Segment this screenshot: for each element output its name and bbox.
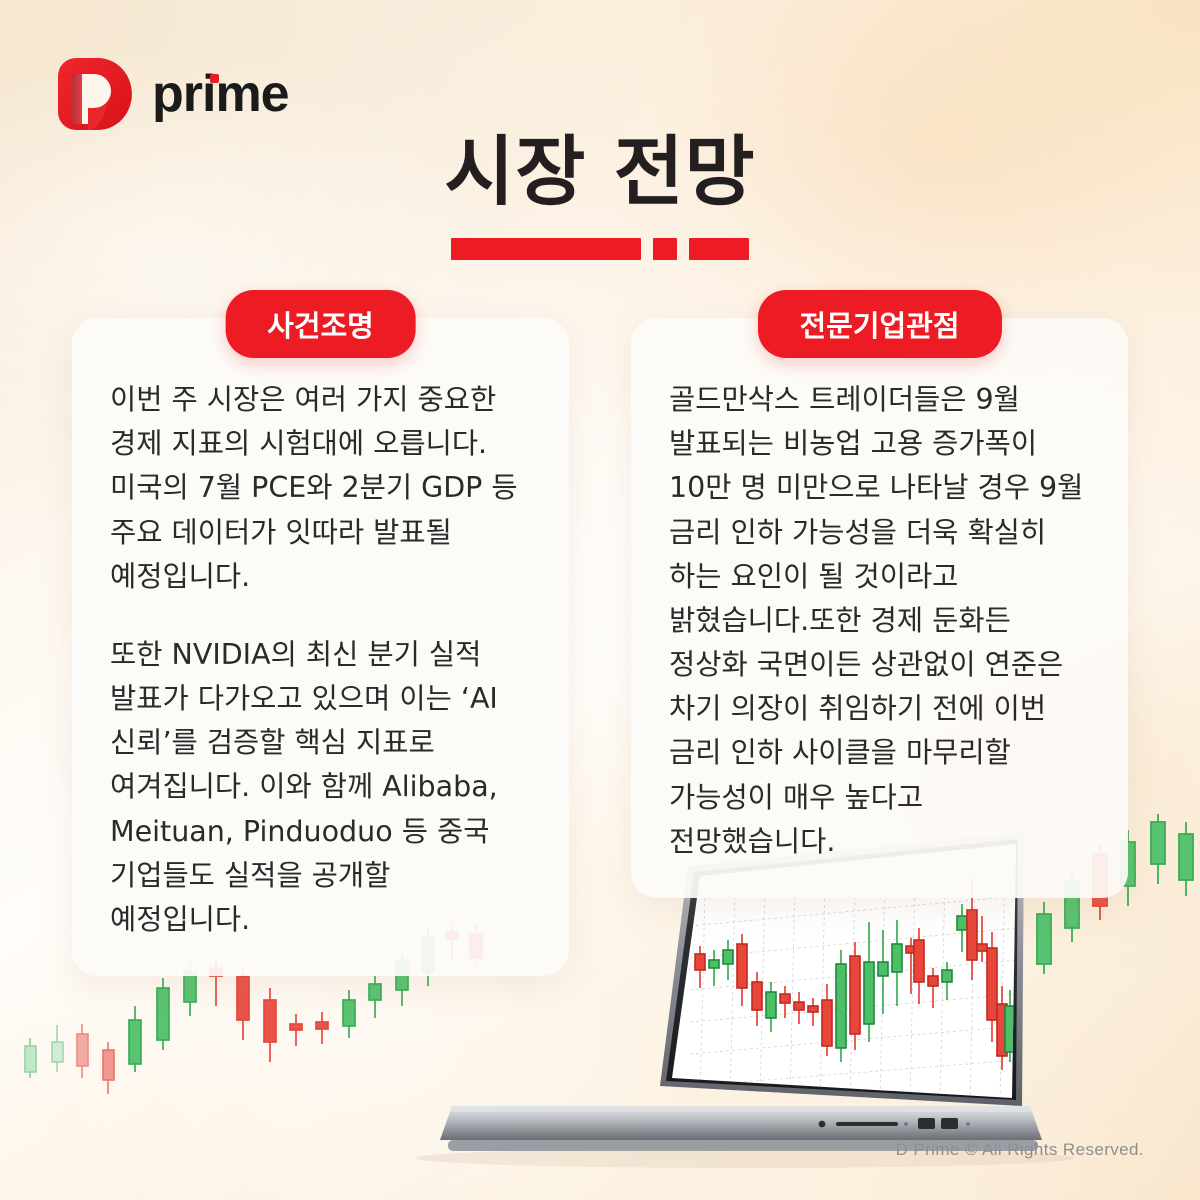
card-event-spotlight: 사건조명 이번 주 시장은 여러 가지 중요한 경제 지표의 시험대에 오릅니다… bbox=[72, 318, 569, 976]
brand-wordmark: prime bbox=[152, 68, 289, 120]
logo-accent-dot-icon bbox=[210, 74, 219, 83]
poster-root: prime 시장 전망 사건조명 이번 주 시장은 여러 가지 중요한 경제 지… bbox=[0, 0, 1200, 1200]
cards-row: 사건조명 이번 주 시장은 여러 가지 중요한 경제 지표의 시험대에 오릅니다… bbox=[0, 318, 1200, 976]
card-paragraph: 이번 주 시장은 여러 가지 중요한 경제 지표의 시험대에 오릅니다. 미국의… bbox=[110, 378, 531, 599]
underline-segment-mid bbox=[689, 238, 749, 260]
brand-logo[interactable]: prime bbox=[52, 52, 289, 136]
card-paragraph: 골드만삭스 트레이더들은 9월 발표되는 비농업 고용 증가폭이 10만 명 미… bbox=[669, 378, 1090, 864]
underline-segment-dot bbox=[653, 238, 677, 260]
card-badge-expert-view: 전문기업관점 bbox=[757, 290, 1001, 358]
title-underline bbox=[0, 238, 1200, 260]
d-prime-logo-icon bbox=[52, 52, 136, 136]
title-block: 시장 전망 bbox=[0, 132, 1200, 260]
underline-segment-long bbox=[451, 238, 641, 260]
card-paragraph: 또한 NVIDIA의 최신 분기 실적 발표가 다가오고 있으며 이는 ‘AI … bbox=[110, 633, 531, 942]
page-title: 시장 전망 bbox=[0, 132, 1200, 212]
card-expert-view: 전문기업관점 골드만삭스 트레이더들은 9월 발표되는 비농업 고용 증가폭이 … bbox=[631, 318, 1128, 898]
footer-copyright: D Prime © All Rights Reserved. bbox=[896, 1140, 1144, 1160]
card-badge-event-spotlight: 사건조명 bbox=[225, 290, 416, 358]
brand-wordmark-text: prime bbox=[152, 65, 289, 123]
